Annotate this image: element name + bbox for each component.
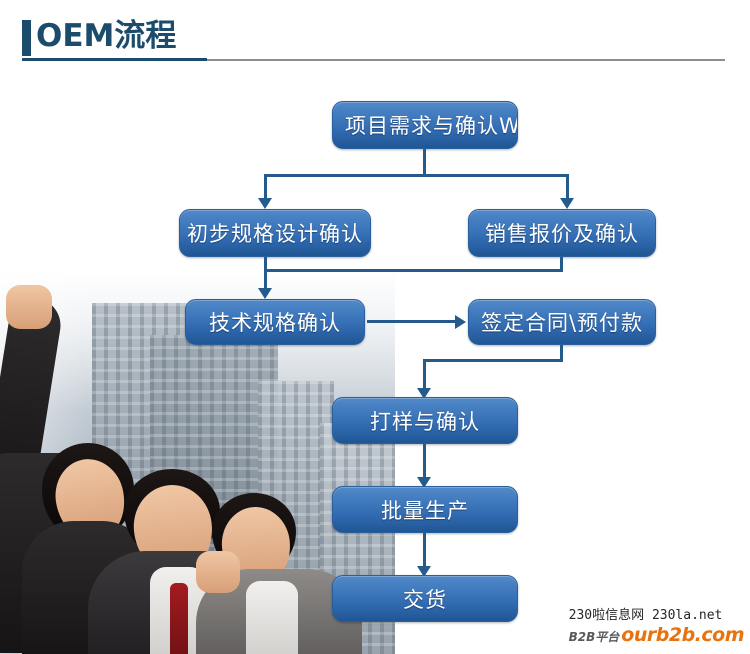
watermark-b2b-label: B2B平台 bbox=[569, 630, 620, 645]
flow-node-label: 项目需求与确认W bbox=[345, 110, 518, 140]
connector-r1-stem bbox=[423, 149, 426, 176]
flow-node-label: 初步规格设计确认 bbox=[187, 218, 363, 248]
watermark-logo: B2B平台 ourb2b.com bbox=[569, 624, 744, 648]
slide-canvas: OEM流程 bbox=[0, 0, 750, 654]
watermark-site-url: ourb2b.com bbox=[621, 624, 744, 648]
flow-node-label: 销售报价及确认 bbox=[485, 218, 639, 248]
flow-node-label: 打样与确认 bbox=[370, 406, 480, 436]
arrow-to-sales-quotation bbox=[560, 198, 574, 209]
flow-node-sales-quotation[interactable]: 销售报价及确认 bbox=[468, 209, 656, 257]
flow-node-sampling-confirm[interactable]: 打样与确认 bbox=[332, 397, 518, 444]
connector-production-stem bbox=[423, 533, 426, 569]
connector-contract-bus bbox=[423, 359, 563, 362]
watermark-site-name: 230啦信息网 230la.net bbox=[569, 608, 744, 624]
connector-r1-right-drop bbox=[566, 174, 569, 201]
connector-sampling-stem bbox=[423, 444, 426, 480]
flow-node-technical-spec-confirm[interactable]: 技术规格确认 bbox=[185, 299, 365, 345]
arrow-to-technical-spec bbox=[258, 288, 272, 299]
flow-node-label: 交货 bbox=[403, 584, 447, 614]
flow-node-sign-contract-prepayment[interactable]: 签定合同\预付款 bbox=[468, 299, 656, 345]
connector-r2-bus bbox=[264, 269, 563, 272]
flow-node-label: 批量生产 bbox=[381, 495, 469, 525]
connector-r3-horizontal bbox=[367, 320, 457, 323]
flow-node-label: 签定合同\预付款 bbox=[481, 307, 643, 337]
connector-r1-bus bbox=[264, 174, 569, 177]
arrow-to-sign-contract bbox=[455, 315, 466, 329]
flow-node-project-requirement[interactable]: 项目需求与确认W bbox=[332, 101, 518, 149]
connector-r1-left-drop bbox=[264, 174, 267, 201]
flow-node-preliminary-spec-design[interactable]: 初步规格设计确认 bbox=[179, 209, 371, 257]
flow-node-delivery[interactable]: 交货 bbox=[332, 575, 518, 622]
flow-node-label: 技术规格确认 bbox=[209, 307, 341, 337]
arrow-to-preliminary-spec bbox=[258, 198, 272, 209]
connector-contract-drop bbox=[423, 359, 426, 391]
flowchart: 项目需求与确认W 初步规格设计确认 销售报价及确认 技术规格确认 签定合同\预付… bbox=[0, 0, 750, 654]
watermark: 230啦信息网 230la.net B2B平台 ourb2b.com bbox=[569, 608, 744, 648]
flow-node-mass-production[interactable]: 批量生产 bbox=[332, 486, 518, 533]
